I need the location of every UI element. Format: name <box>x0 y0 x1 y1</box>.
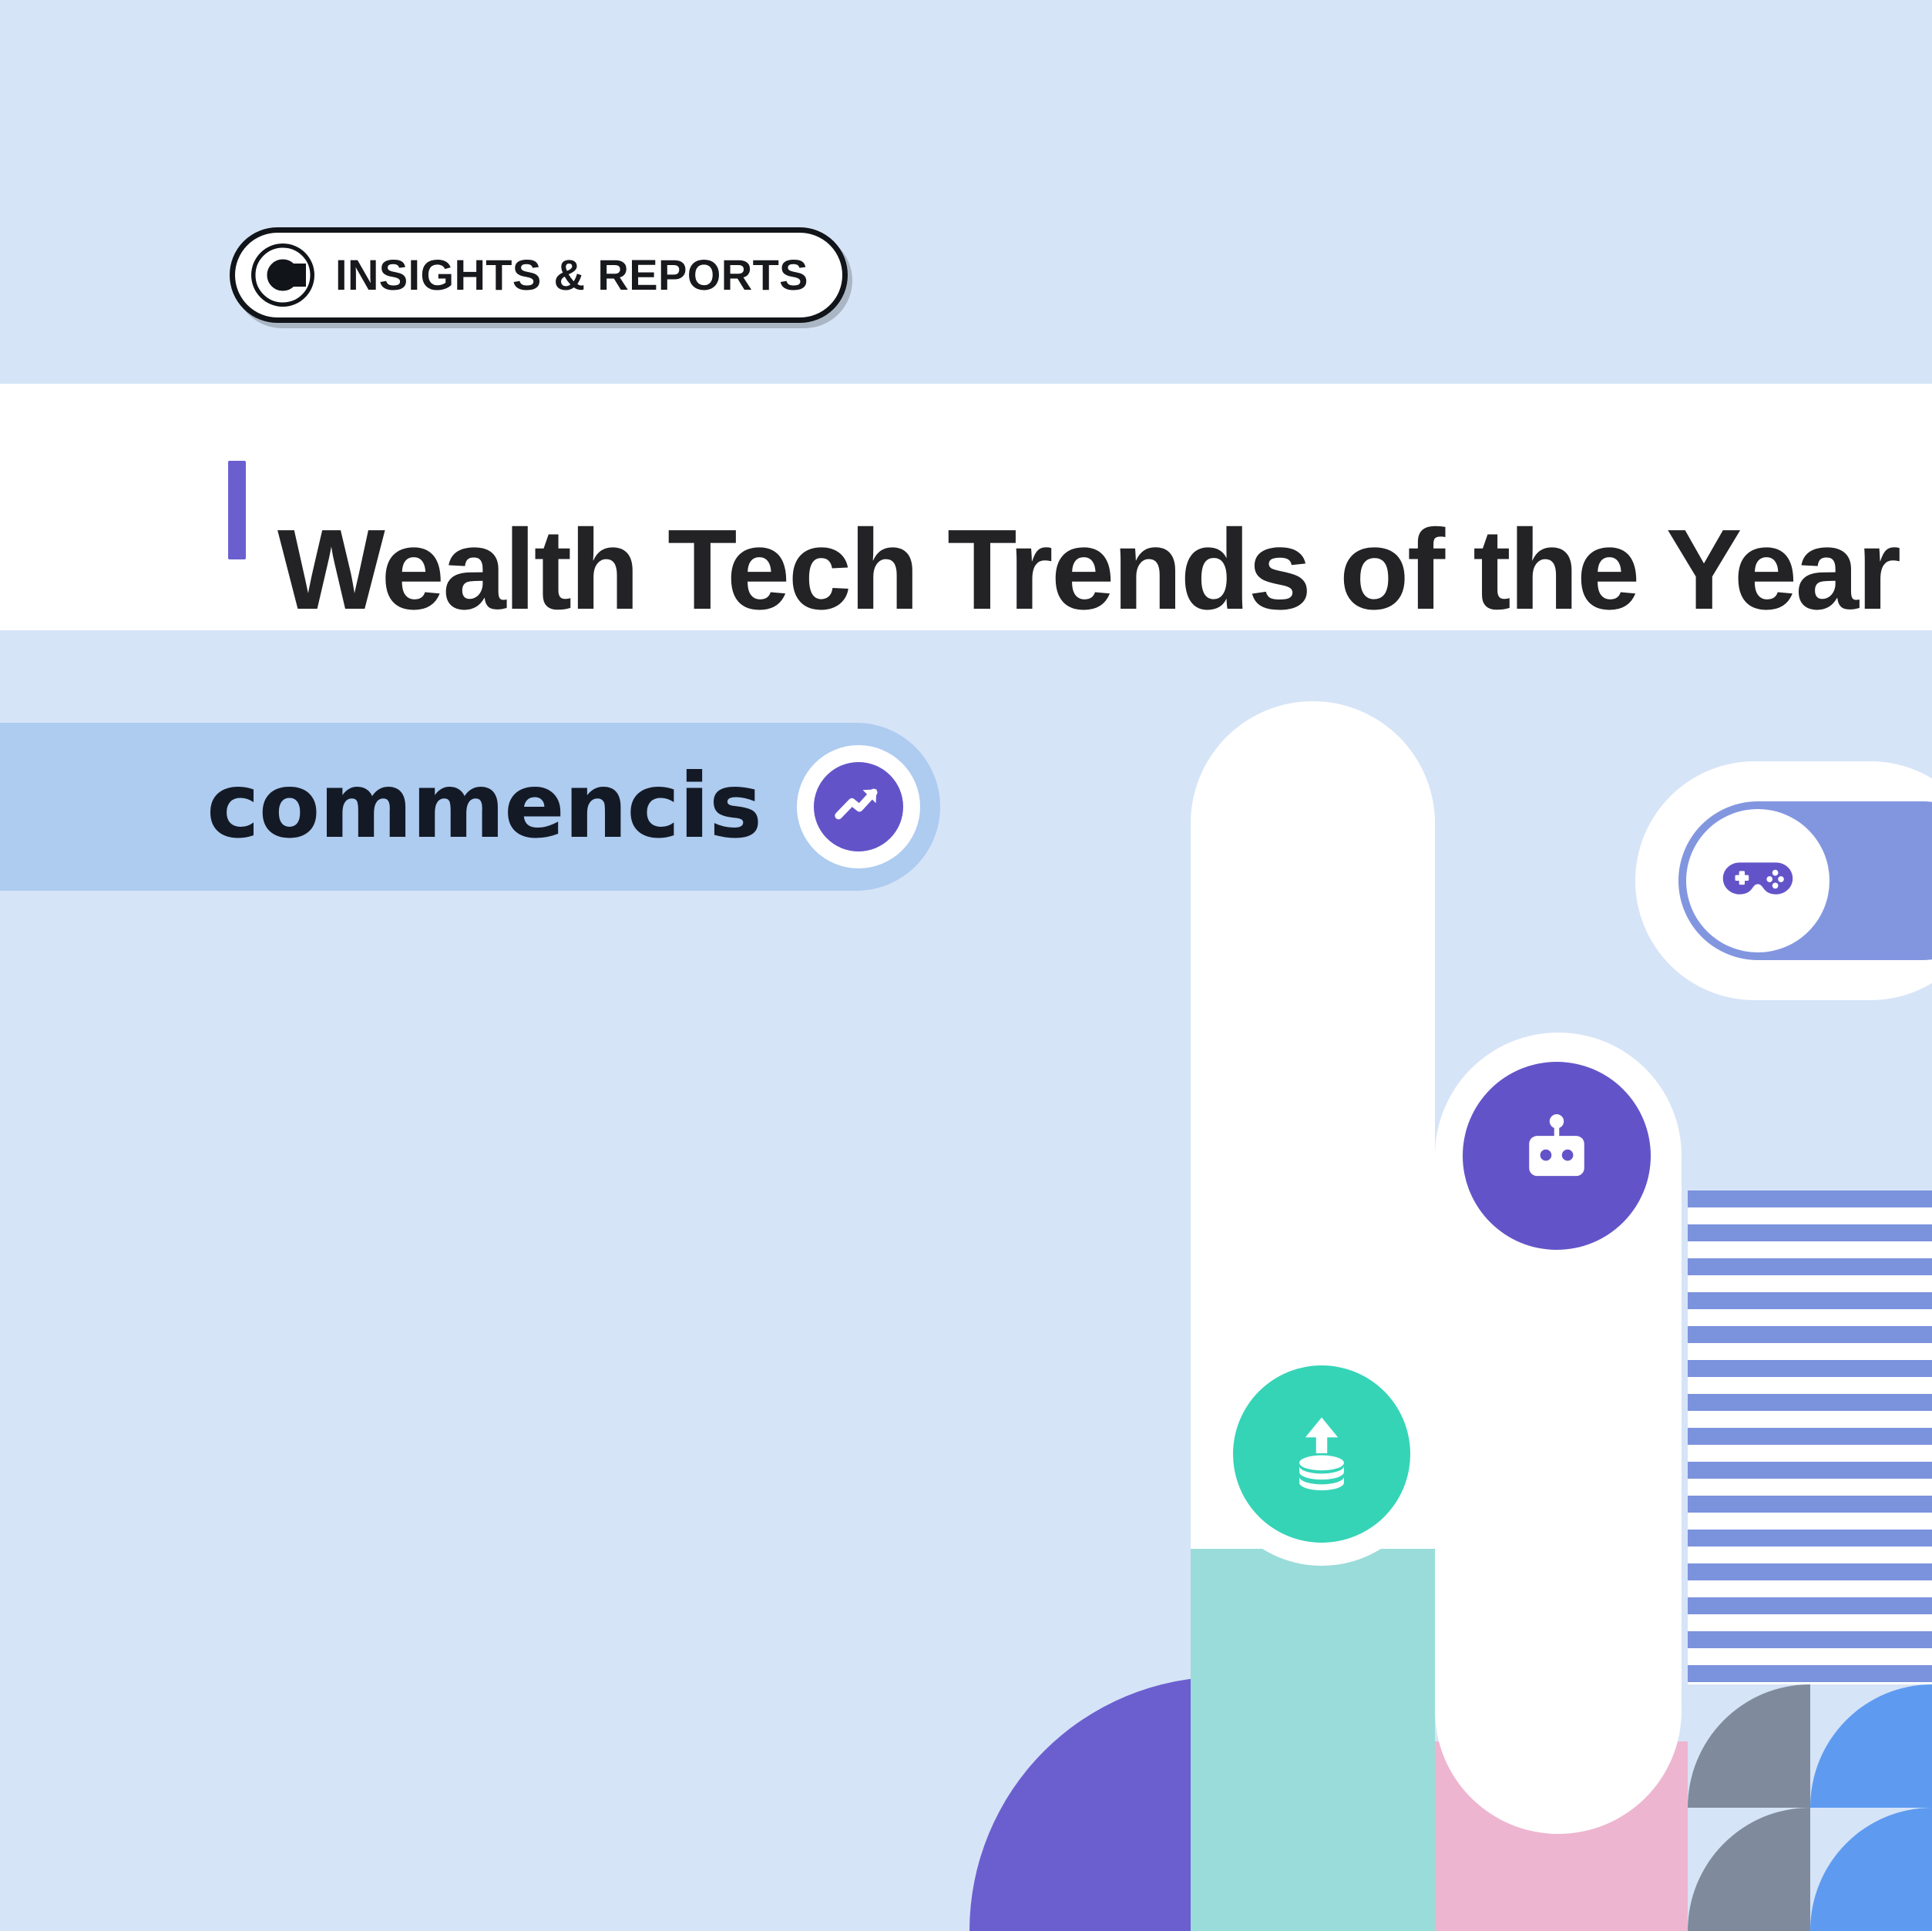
brand-pill: commencis <box>0 723 940 891</box>
quarter-circle-tile-blue <box>1810 1684 1932 1808</box>
gamepad-icon <box>1712 834 1803 929</box>
page-title: Wealth Tech Trends of the Year <box>277 506 1865 634</box>
quarter-circle-tile-gray <box>1688 1684 1810 1808</box>
horizontal-stripes-pattern <box>1688 1191 1932 1703</box>
commencis-wordmark: commencis <box>207 762 761 851</box>
quarter-circle-tile-gray <box>1688 1808 1810 1931</box>
commencis-c-logomark-icon <box>250 243 315 307</box>
gamepad-icon-badge <box>1686 809 1830 952</box>
quarter-circle-tile-grid <box>1688 1684 1932 1931</box>
title-accent-bar <box>228 461 246 559</box>
poster-canvas: Wealth Tech Trends of the Year commencis <box>0 0 1932 1931</box>
trending-up-icon <box>830 777 887 838</box>
robot-icon <box>1507 1104 1607 1208</box>
insights-reports-badge[interactable]: INSIGHTS & REPORTS <box>230 227 848 323</box>
coins-up-arrow-icon <box>1274 1405 1369 1504</box>
badge-label: INSIGHTS & REPORTS <box>335 254 808 297</box>
robot-icon-badge <box>1463 1062 1651 1250</box>
coins-icon-circle <box>1233 1365 1410 1543</box>
coins-icon-badge <box>1210 1342 1433 1566</box>
trending-up-icon-circle <box>814 762 903 851</box>
quarter-circle-tile-blue <box>1810 1808 1932 1931</box>
teal-column <box>1191 1537 1435 1931</box>
trending-up-icon-badge <box>797 745 920 868</box>
